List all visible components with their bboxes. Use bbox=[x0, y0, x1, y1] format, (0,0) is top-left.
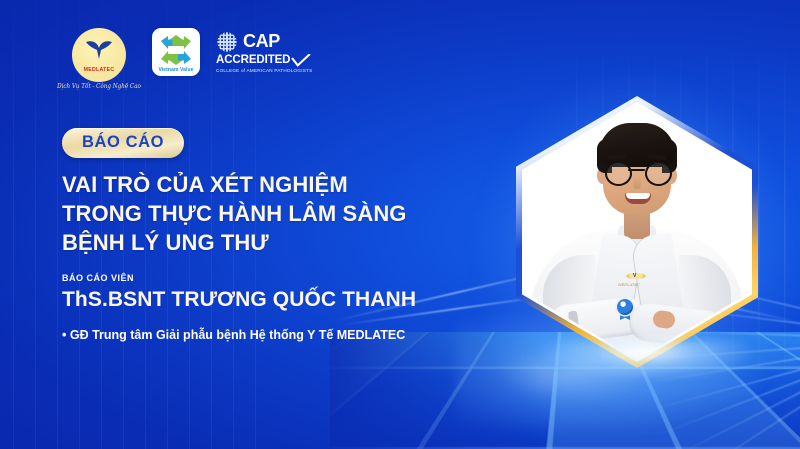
report-badge: BÁO CÁO bbox=[62, 128, 184, 158]
title-line-1: VAI TRÒ CỦA XÉT NGHIỆM bbox=[62, 170, 482, 199]
cap-accredited-text: ACCREDITED bbox=[216, 55, 290, 67]
medlatec-wordmark: MEDLATEC bbox=[72, 67, 126, 73]
pinwheel-arrows-icon bbox=[159, 34, 193, 66]
vietnam-value-logo: Vietnam Value bbox=[152, 28, 200, 76]
coat-logo-text: MEDLATEC bbox=[618, 283, 640, 287]
medlatec-circle: MEDLATEC bbox=[72, 28, 126, 82]
medlatec-tagline: Dịch Vụ Tốt - Công Nghệ Cao bbox=[57, 84, 141, 91]
checkmark-icon bbox=[291, 54, 311, 67]
logo-row: MEDLATEC Dịch Vụ Tốt - Công Nghệ Cao Vie… bbox=[62, 28, 312, 90]
cap-subtitle: COLLEGE of AMERICAN PATHOLOGISTS bbox=[216, 68, 312, 73]
slide-canvas: MEDLATEC Dịch Vụ Tốt - Công Nghệ Cao Vie… bbox=[0, 0, 800, 449]
eyeglasses-icon bbox=[645, 161, 672, 186]
coat-logo-icon: V bbox=[626, 273, 646, 282]
speaker-portrait-hexagon: V MEDLATEC bbox=[500, 88, 774, 376]
cap-wordmark: CAP bbox=[243, 33, 280, 50]
title-line-2: TRONG THỰC HÀNH LÂM SÀNG bbox=[62, 199, 482, 228]
speaker-name: ThS.BSNT TRƯƠNG QUỐC THANH bbox=[62, 288, 416, 312]
cap-grid-icon bbox=[216, 31, 238, 53]
page-title: VAI TRÒ CỦA XÉT NGHIỆM TRONG THỰC HÀNH L… bbox=[62, 170, 482, 257]
lapel-pin-icon bbox=[617, 299, 633, 315]
eyeglasses-icon bbox=[605, 161, 632, 186]
title-line-3: BỆNH LÝ UNG THƯ bbox=[62, 228, 482, 257]
speaker-role: • GĐ Trung tâm Giải phẫu bệnh Hệ thống Y… bbox=[62, 328, 405, 342]
vietnam-value-label: Vietnam Value bbox=[152, 67, 200, 73]
speaker-label: BÁO CÁO VIÊN bbox=[62, 273, 134, 283]
medlatec-bird-icon bbox=[84, 39, 114, 63]
cap-accredited-logo: CAP ACCREDITED COLLEGE of AMERICAN PATHO… bbox=[216, 28, 312, 73]
hexagon-bottom-glow-decoration bbox=[540, 340, 754, 380]
medlatec-logo: MEDLATEC Dịch Vụ Tốt - Công Nghệ Cao bbox=[62, 28, 136, 90]
